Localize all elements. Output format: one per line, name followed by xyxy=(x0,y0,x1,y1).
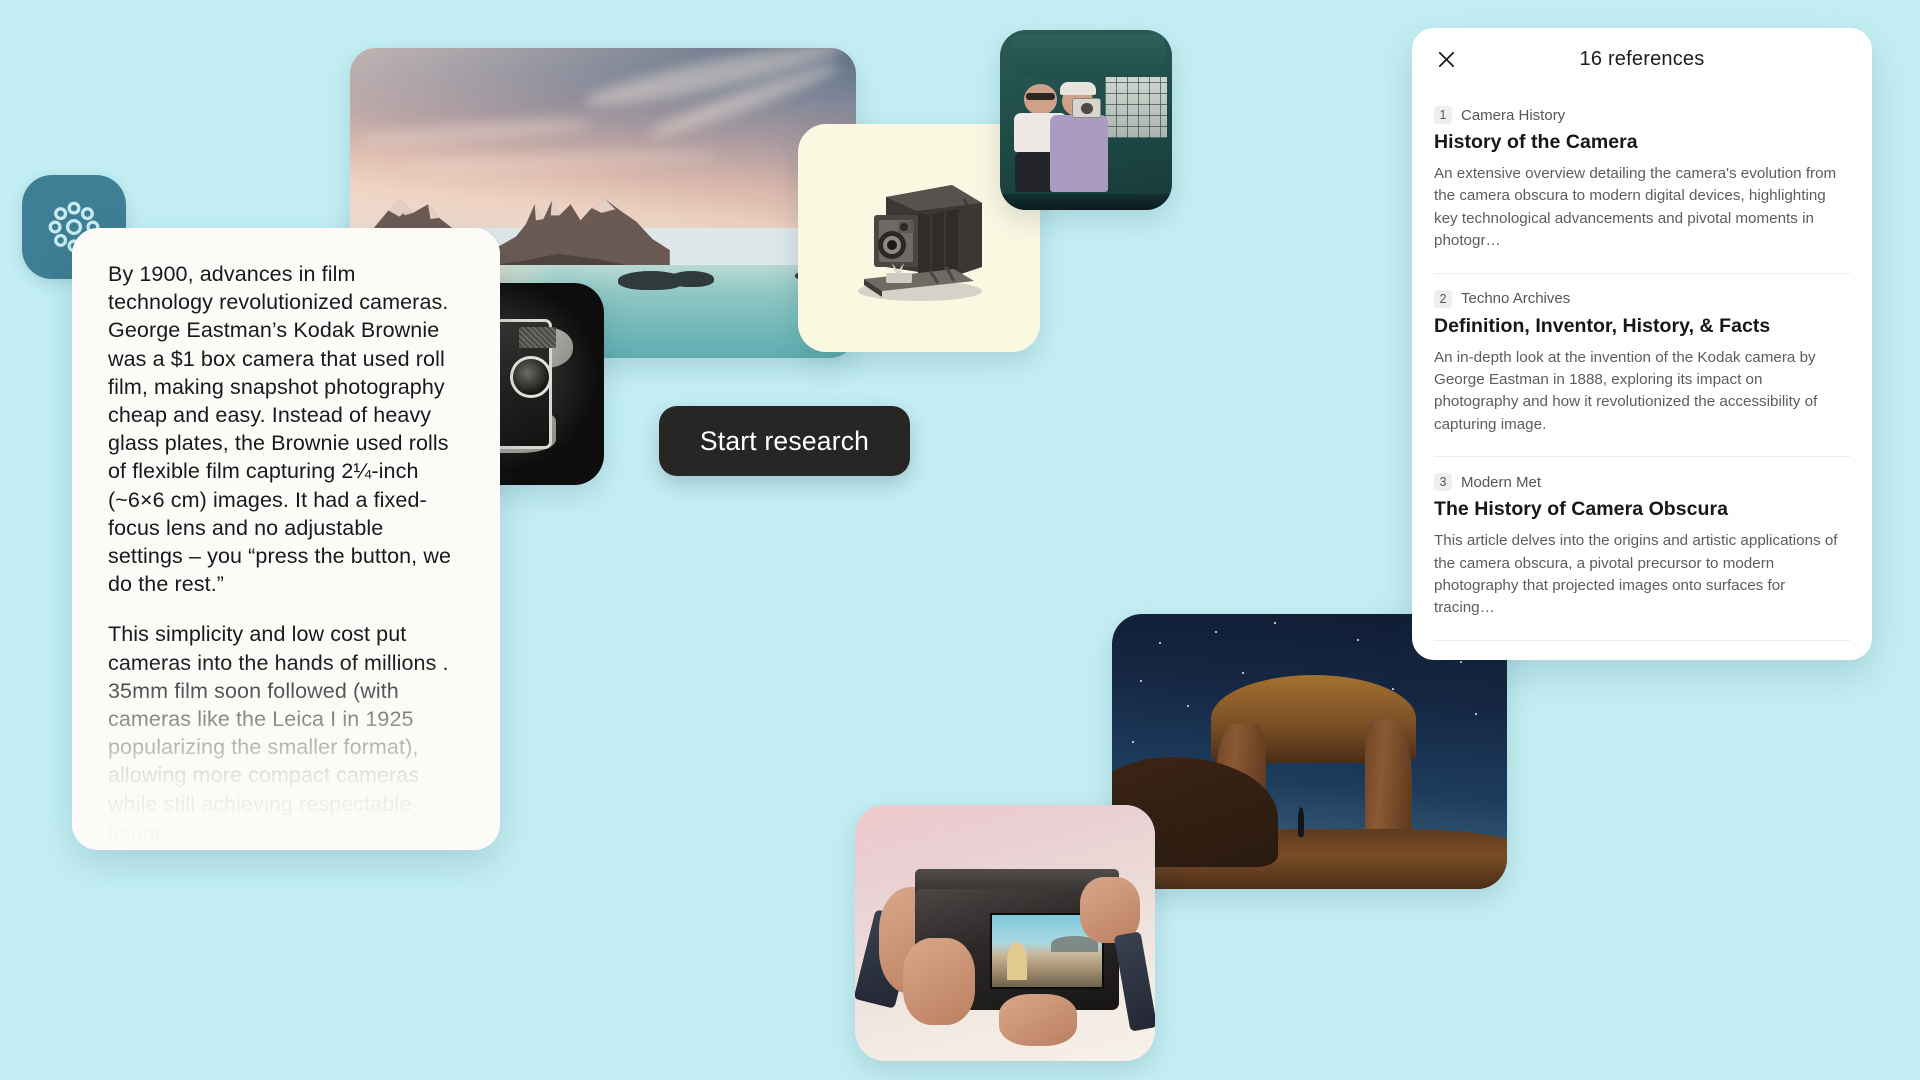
reference-title: History of the Camera xyxy=(1434,131,1850,154)
references-panel-title: 16 references xyxy=(1580,48,1705,71)
star xyxy=(1140,680,1142,682)
reference-source-name: Modern Met xyxy=(1461,474,1541,491)
camera-in-hands-photo[interactable] xyxy=(855,805,1155,1061)
star xyxy=(1132,741,1134,743)
reference-number-badge: 1 xyxy=(1434,106,1452,124)
reference-description: An in-depth look at the invention of the… xyxy=(1434,347,1850,437)
star xyxy=(1357,639,1359,641)
reference-source-row: 3 Modern Met xyxy=(1434,473,1850,491)
person-top xyxy=(1050,115,1108,192)
tram-selfie-photo[interactable] xyxy=(1000,30,1172,210)
references-list: 1 Camera History History of the Camera A… xyxy=(1412,90,1872,660)
sunglasses-icon xyxy=(1026,93,1055,100)
note-paragraph: This simplicity and low cost put cameras… xyxy=(108,620,464,846)
reference-description: This article delves into the origins and… xyxy=(1434,530,1850,620)
note-text: By 1900, advances in film technology rev… xyxy=(72,228,500,846)
reference-item[interactable]: ncements xyxy=(1434,641,1850,660)
reference-source-name: Camera History xyxy=(1461,107,1565,124)
viewfinder xyxy=(519,327,556,347)
tram-window xyxy=(1105,77,1167,138)
reference-item[interactable]: 2 Techno Archives Definition, Inventor, … xyxy=(1434,274,1850,458)
close-references-button[interactable] xyxy=(1430,43,1462,75)
close-icon xyxy=(1437,50,1456,69)
start-research-button[interactable]: Start research xyxy=(659,406,910,476)
left-fingers xyxy=(903,938,975,1025)
lcd-building xyxy=(1007,942,1027,980)
reference-item[interactable]: 3 Modern Met The History of Camera Obscu… xyxy=(1434,457,1850,641)
research-note-card[interactable]: By 1900, advances in film technology rev… xyxy=(72,228,500,850)
reference-number-badge: 3 xyxy=(1434,473,1452,491)
compact-camera xyxy=(1072,98,1101,118)
reference-source-name: ncements xyxy=(1512,659,1577,660)
star xyxy=(1460,661,1462,663)
reference-description: An extensive overview detailing the came… xyxy=(1434,163,1850,253)
tram-roof xyxy=(1010,34,1165,77)
reference-title: Definition, Inventor, History, & Facts xyxy=(1434,315,1850,338)
note-paragraph: By 1900, advances in film technology rev… xyxy=(108,260,464,598)
star xyxy=(1215,631,1217,633)
reference-item[interactable]: 1 Camera History History of the Camera A… xyxy=(1434,90,1850,274)
camera-lens xyxy=(510,356,551,398)
references-panel-header: 16 references xyxy=(1412,28,1872,90)
reference-source-row: 2 Techno Archives xyxy=(1434,290,1850,308)
reference-number-badge: 2 xyxy=(1434,290,1452,308)
star xyxy=(1187,705,1189,707)
reference-source-row: 1 Camera History xyxy=(1434,106,1850,124)
cap-icon xyxy=(1060,82,1096,95)
person-silhouette xyxy=(1298,807,1305,837)
tram-rail xyxy=(1000,194,1172,210)
reference-source-name: Techno Archives xyxy=(1461,290,1570,307)
reference-title: The History of Camera Obscura xyxy=(1434,498,1850,521)
right-fingers xyxy=(999,994,1077,1045)
research-canvas: By 1900, advances in film technology rev… xyxy=(0,0,1920,1080)
islet xyxy=(669,271,715,287)
reference-source-row: ncements xyxy=(1434,659,1850,660)
references-panel: 16 references 1 Camera History History o… xyxy=(1412,28,1872,660)
bellows-camera-drawing xyxy=(834,163,1004,313)
